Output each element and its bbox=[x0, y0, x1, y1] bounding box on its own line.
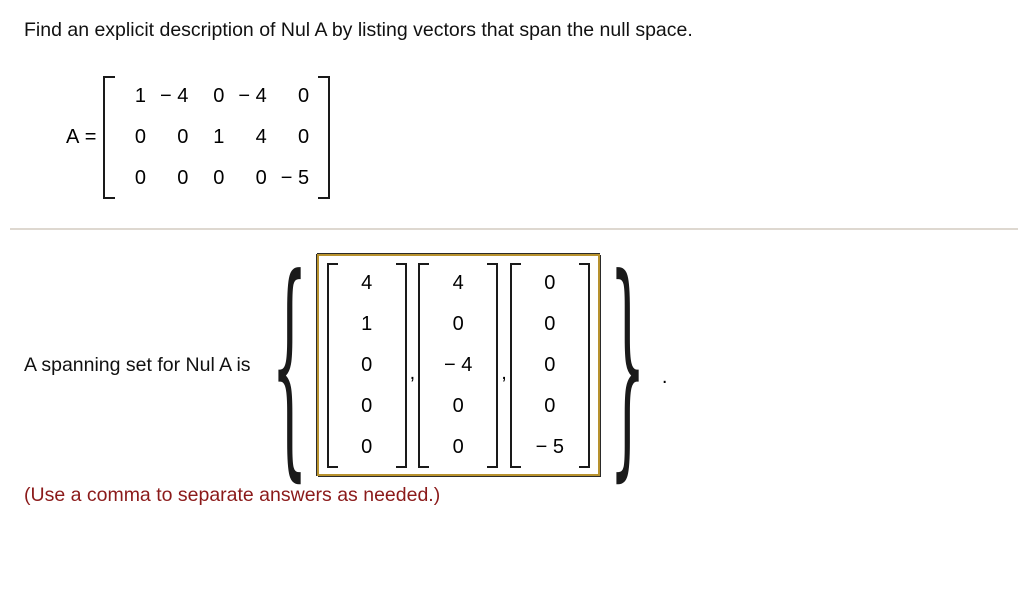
right-bracket-icon bbox=[487, 263, 498, 468]
matrix-cell: 1 bbox=[117, 76, 153, 117]
left-bracket-icon bbox=[103, 76, 115, 199]
matrix-a-block: A = 1 − 4 0 − 4 0 0 0 1 4 0 0 0 0 0 bbox=[66, 76, 330, 199]
left-bracket-icon bbox=[510, 263, 521, 468]
vector-row: 0 bbox=[523, 386, 577, 427]
answer-format-hint: (Use a comma to separate answers as need… bbox=[24, 484, 440, 507]
matrix-cell: 0 bbox=[117, 117, 153, 158]
vector-cell: 4 bbox=[340, 263, 394, 304]
vector-3-entries: 0 0 0 0 − 5 bbox=[523, 263, 577, 468]
matrix-cell: − 4 bbox=[153, 76, 195, 117]
vector-2: 4 0 − 4 0 0 bbox=[418, 263, 498, 468]
vector-cell: 0 bbox=[523, 263, 577, 304]
right-bracket-icon bbox=[318, 76, 330, 199]
vector-cell: 0 bbox=[340, 386, 394, 427]
vector-1-entries: 4 1 0 0 0 bbox=[340, 263, 394, 468]
vector-1: 4 1 0 0 0 bbox=[327, 263, 407, 468]
vector-cell: 0 bbox=[431, 386, 485, 427]
vector-row: − 5 bbox=[523, 427, 577, 468]
matrix-cell: 0 bbox=[153, 158, 195, 199]
vector-cell: − 5 bbox=[523, 427, 577, 468]
vector-3: 0 0 0 0 − 5 bbox=[510, 263, 590, 468]
answer-label: A spanning set for Nul A is bbox=[24, 354, 259, 377]
answer-row: A spanning set for Nul A is { 4 1 0 0 0 … bbox=[24, 245, 667, 485]
matrix-cell: 0 bbox=[195, 76, 231, 117]
answer-input-field[interactable]: 4 1 0 0 0 , 4 0 − 4 0 0 bbox=[317, 254, 600, 476]
right-bracket-icon bbox=[579, 263, 590, 468]
vector-row: 4 bbox=[431, 263, 485, 304]
vector-cell: 0 bbox=[431, 304, 485, 345]
vector-cell: 0 bbox=[523, 304, 577, 345]
vector-separator: , bbox=[498, 362, 510, 385]
vector-row: 1 bbox=[340, 304, 394, 345]
left-bracket-icon bbox=[418, 263, 429, 468]
right-bracket-icon bbox=[396, 263, 407, 468]
matrix-label: A = bbox=[66, 126, 97, 149]
matrix-cell: 0 bbox=[153, 117, 195, 158]
trailing-period: . bbox=[658, 366, 668, 485]
matrix-row: 0 0 0 0 − 5 bbox=[117, 158, 316, 199]
matrix-cell: 0 bbox=[231, 158, 273, 199]
matrix-cell: − 5 bbox=[274, 158, 316, 199]
vector-list: 4 1 0 0 0 , 4 0 − 4 0 0 bbox=[327, 263, 590, 468]
vector-row: 0 bbox=[340, 386, 394, 427]
matrix-cell: − 4 bbox=[231, 76, 273, 117]
vector-row: 0 bbox=[523, 304, 577, 345]
matrix-row: 0 0 1 4 0 bbox=[117, 117, 316, 158]
matrix-cell: 1 bbox=[195, 117, 231, 158]
vector-cell: 0 bbox=[523, 386, 577, 427]
matrix-a: 1 − 4 0 − 4 0 0 0 1 4 0 0 0 0 0 − 5 bbox=[117, 76, 316, 199]
matrix-cell: 0 bbox=[274, 117, 316, 158]
vector-cell: 0 bbox=[523, 345, 577, 386]
matrix-row: 1 − 4 0 − 4 0 bbox=[117, 76, 316, 117]
vector-cell: 4 bbox=[431, 263, 485, 304]
vector-2-entries: 4 0 − 4 0 0 bbox=[431, 263, 485, 468]
matrix-cell: 0 bbox=[117, 158, 153, 199]
vector-cell: − 4 bbox=[431, 345, 485, 386]
matrix-brackets: 1 − 4 0 − 4 0 0 0 1 4 0 0 0 0 0 − 5 bbox=[103, 76, 330, 199]
vector-row: 0 bbox=[431, 304, 485, 345]
matrix-cell: 0 bbox=[274, 76, 316, 117]
vector-row: 0 bbox=[431, 386, 485, 427]
matrix-cell: 4 bbox=[231, 117, 273, 158]
vector-row: 0 bbox=[431, 427, 485, 468]
vector-row: 0 bbox=[523, 263, 577, 304]
vector-separator: , bbox=[407, 362, 419, 385]
vector-cell: 0 bbox=[431, 427, 485, 468]
left-bracket-icon bbox=[327, 263, 338, 468]
question-prompt: Find an explicit description of Nul A by… bbox=[24, 18, 693, 42]
vector-row: − 4 bbox=[431, 345, 485, 386]
vector-cell: 0 bbox=[340, 345, 394, 386]
section-divider bbox=[10, 228, 1018, 230]
vector-row: 0 bbox=[523, 345, 577, 386]
vector-row: 4 bbox=[340, 263, 394, 304]
vector-row: 0 bbox=[340, 345, 394, 386]
vector-cell: 1 bbox=[340, 304, 394, 345]
vector-cell: 0 bbox=[340, 427, 394, 468]
matrix-cell: 0 bbox=[195, 158, 231, 199]
vector-row: 0 bbox=[340, 427, 394, 468]
